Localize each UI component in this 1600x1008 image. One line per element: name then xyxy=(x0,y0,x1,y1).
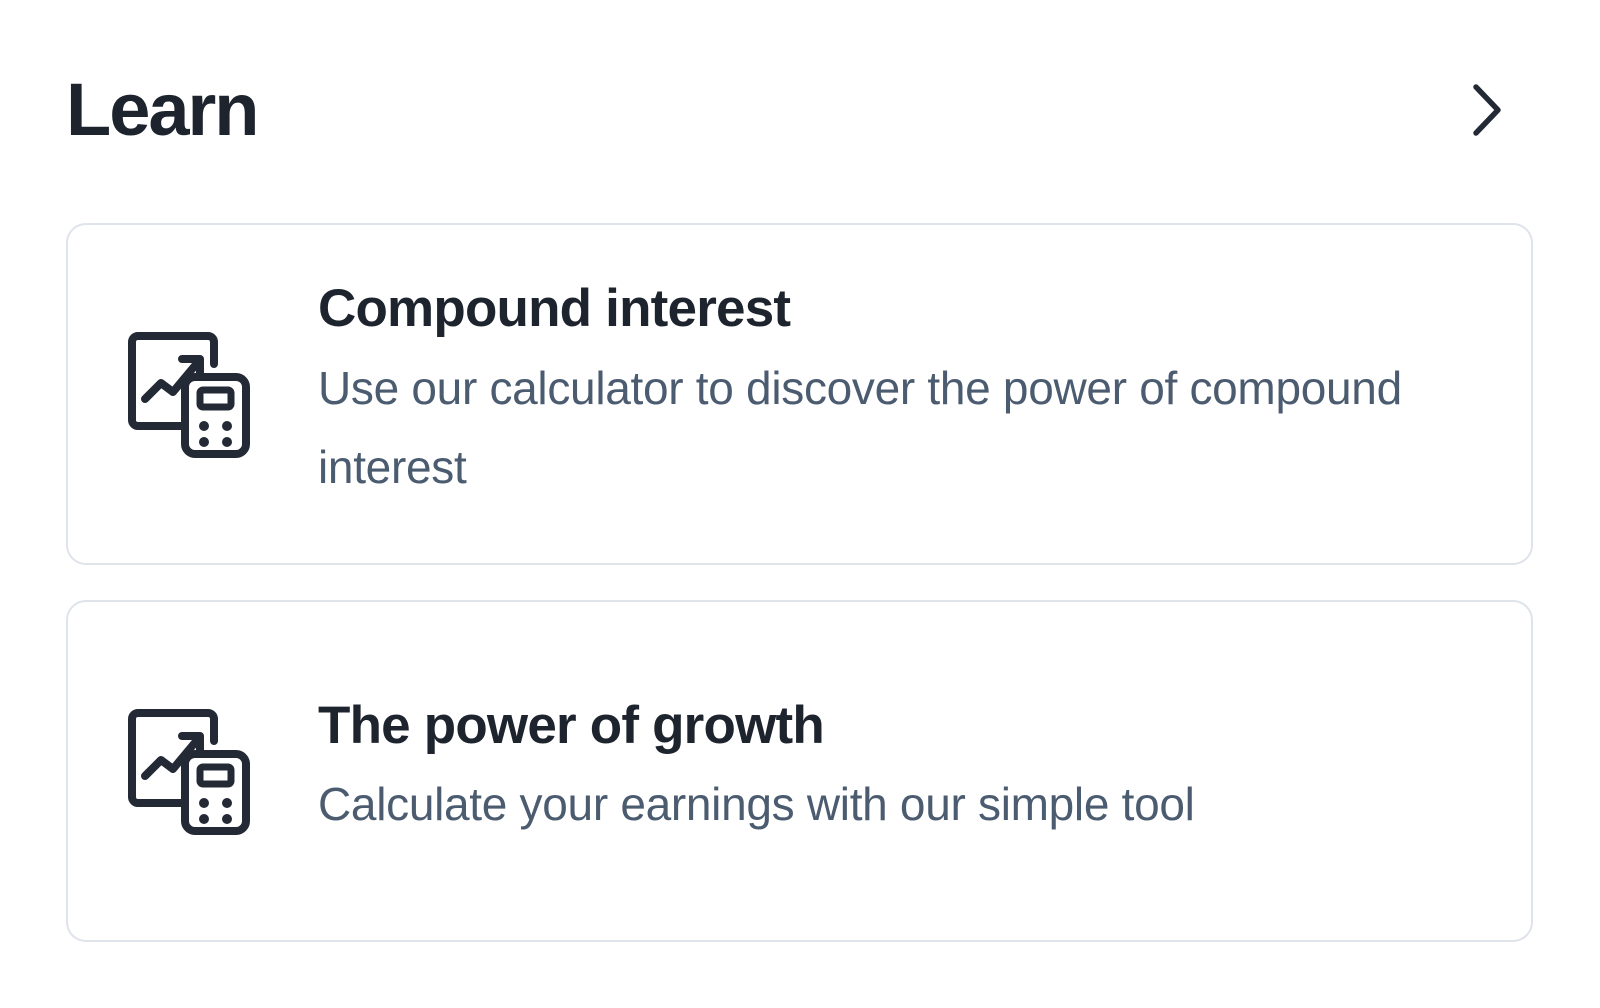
learn-card-list: Compound interest Use our calculator to … xyxy=(66,223,1533,942)
card-title: Compound interest xyxy=(318,279,1461,338)
section-header: Learn xyxy=(66,62,1508,158)
chart-calculator-icon xyxy=(128,705,250,835)
list-item[interactable]: Compound interest Use our calculator to … xyxy=(66,223,1533,565)
list-item[interactable]: The power of growth Calculate your earni… xyxy=(66,600,1533,942)
learn-section-page: Learn xyxy=(0,0,1600,1008)
card-text: Compound interest Use our calculator to … xyxy=(318,279,1491,507)
card-description: Use our calculator to discover the power… xyxy=(318,349,1448,507)
card-title: The power of growth xyxy=(318,696,1461,755)
card-text: The power of growth Calculate your earni… xyxy=(318,696,1491,844)
chevron-right-icon[interactable] xyxy=(1452,82,1508,138)
card-description: Calculate your earnings with our simple … xyxy=(318,765,1448,844)
chart-calculator-icon xyxy=(128,328,250,458)
page-title: Learn xyxy=(66,73,258,147)
